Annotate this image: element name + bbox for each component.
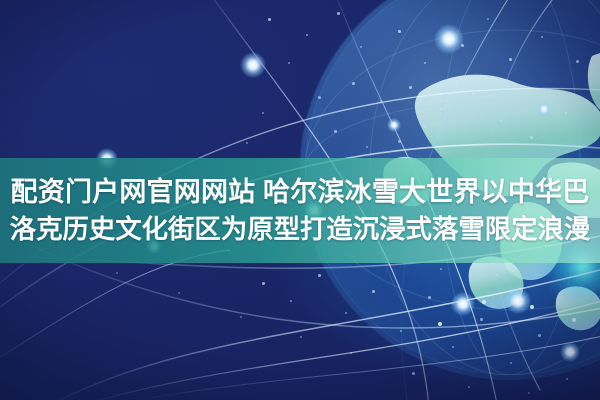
headline-line-2: 洛克历史文化街区为原型打造沉浸式落雪限定浪漫 xyxy=(10,211,591,248)
headline-line-1: 配资门户网官网网站 哈尔滨冰雪大世界以中华巴 xyxy=(11,173,590,211)
headline-block: 配资门户网官网网站 哈尔滨冰雪大世界以中华巴 洛克历史文化街区为原型打造沉浸式落… xyxy=(0,160,600,261)
banner-image: 配资门户网官网网站 哈尔滨冰雪大世界以中华巴 洛克历史文化街区为原型打造沉浸式落… xyxy=(0,0,600,400)
